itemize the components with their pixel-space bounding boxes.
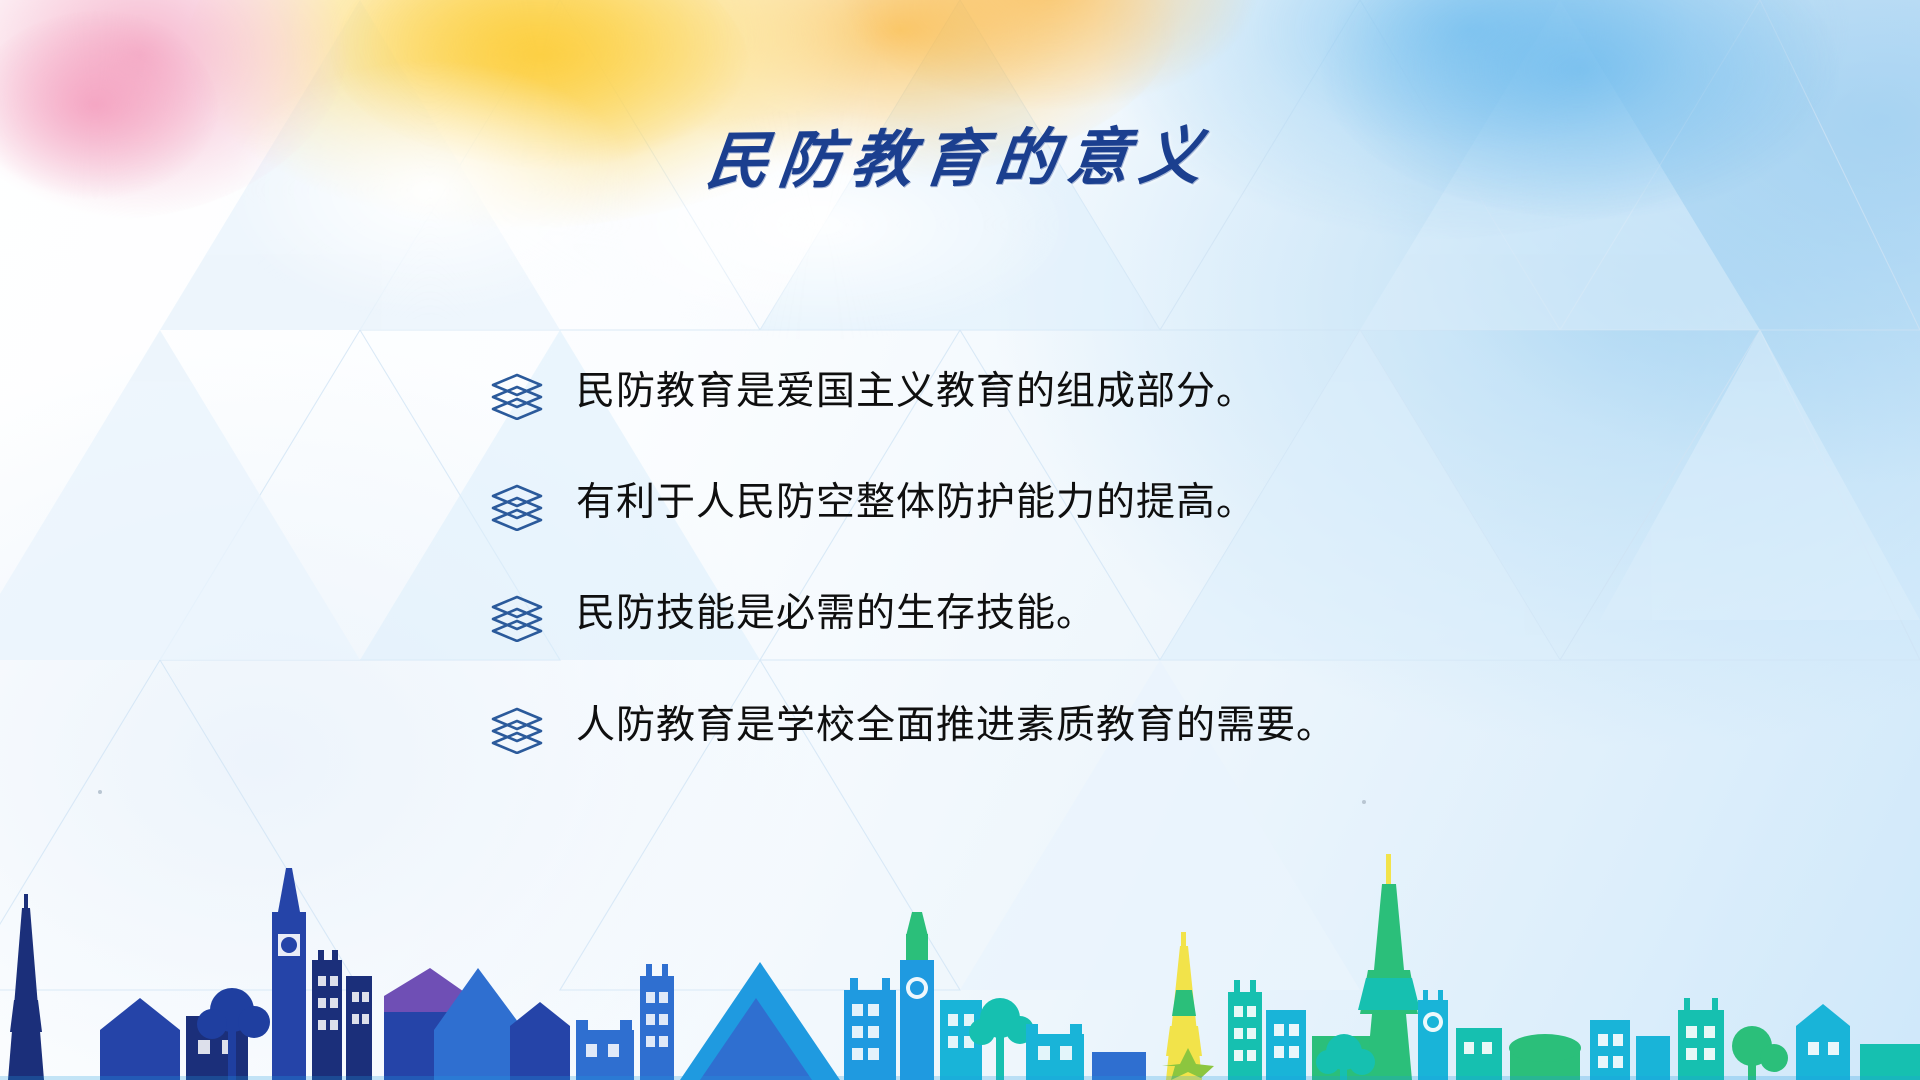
stacked-layers-icon [490, 706, 548, 754]
bullet-item-4: 人防教育是学校全面推进素质教育的需要。 [490, 694, 1490, 757]
bullet-item-2: 有利于人民防空整体防护能力的提高。 [490, 471, 1490, 534]
bullet-text-3: 民防技能是必需的生存技能。 [548, 582, 1096, 645]
decorative-dot [1362, 800, 1366, 804]
bullet-text-4: 人防教育是学校全面推进素质教育的需要。 [548, 694, 1336, 757]
presentation-slide: 民防教育的意义 民防教育是爱国主义教育的组成部分。 [0, 0, 1920, 1080]
decorative-dot [98, 790, 102, 794]
bullet-text-2: 有利于人民防空整体防护能力的提高。 [548, 471, 1256, 534]
bullet-text-1: 民防教育是爱国主义教育的组成部分。 [548, 360, 1256, 423]
slide-title: 民防教育的意义 [703, 105, 1218, 200]
bullet-item-3: 民防技能是必需的生存技能。 [490, 582, 1490, 645]
title-container: 民防教育的意义 [0, 108, 1920, 198]
bullet-item-1: 民防教育是爱国主义教育的组成部分。 [490, 360, 1490, 423]
bullet-list: 民防教育是爱国主义教育的组成部分。 有利于人民防空整体防护能力的提高。 [490, 360, 1490, 757]
stacked-layers-icon [490, 372, 548, 420]
stacked-layers-icon [490, 483, 548, 531]
city-skyline-decoration [0, 850, 1920, 1080]
stacked-layers-icon [490, 594, 548, 642]
